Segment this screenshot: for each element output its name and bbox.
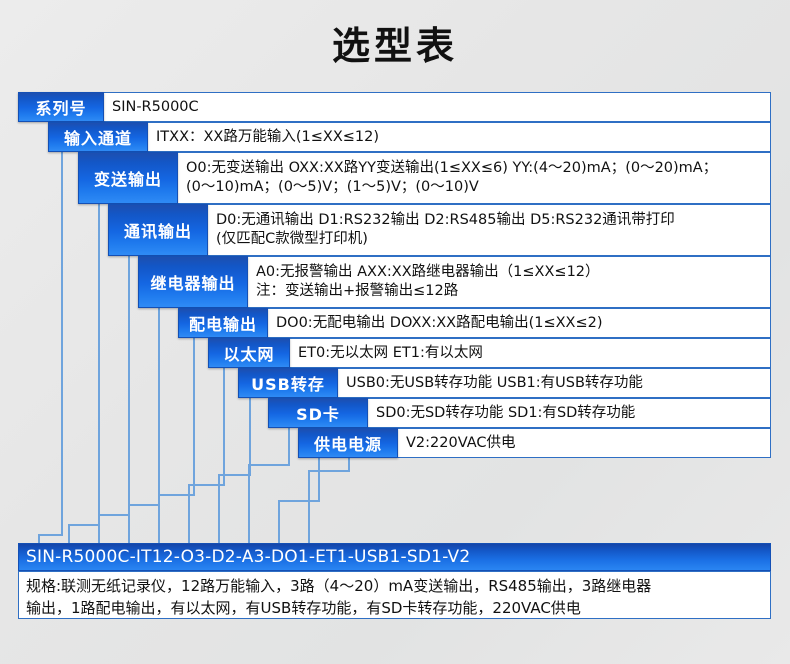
connector-line-series-number — [38, 534, 63, 536]
row-value-power-distribution-output: DO0:无配电输出 DOXX:XX路配电输出(1≤XX≤2) — [268, 308, 771, 338]
connector-line-series-number — [61, 122, 63, 534]
connector-line-power-supply — [348, 458, 350, 470]
row-label-series-number: 系列号 — [18, 92, 104, 122]
row-value-relay-output: A0:无报警输出 AXX:XX路继电器输出（1≤XX≤12）注：变送输出+报警输… — [248, 256, 771, 308]
table-row-usb-transfer: USB转存USB0:无USB转存功能 USB1:有USB转存功能 — [238, 368, 771, 398]
table-row-communication-output: 通讯输出D0:无通讯输出 D1:RS232输出 D2:RS485输出 D5:RS… — [108, 204, 771, 256]
row-label-usb-transfer: USB转存 — [238, 368, 338, 398]
row-value-power-supply: V2:220VAC供电 — [398, 428, 771, 458]
table-row-sd-card: SD卡SD0:无SD转存功能 SD1:有SD转存功能 — [268, 398, 771, 428]
row-value-series-number: SIN-R5000C — [104, 92, 771, 122]
connector-line-power-supply — [308, 470, 310, 543]
connector-line-input-channel — [68, 524, 100, 526]
connector-line-sd-card — [278, 500, 280, 543]
row-label-input-channel: 输入通道 — [48, 122, 148, 152]
connector-line-communication-output — [128, 504, 160, 506]
row-value-line: O0:无变送输出 OXX:XX路YY变送输出(1≤XX≤6) YY:(4～20)… — [186, 159, 762, 178]
table-row-transmit-output: 变送输出O0:无变送输出 OXX:XX路YY变送输出(1≤XX≤6) YY:(4… — [78, 152, 771, 204]
row-label-ethernet: 以太网 — [208, 338, 290, 368]
row-value-transmit-output: O0:无变送输出 OXX:XX路YY变送输出(1≤XX≤6) YY:(4～20)… — [178, 152, 771, 204]
row-label-transmit-output: 变送输出 — [78, 152, 178, 204]
row-value-line: DO0:无配电输出 DOXX:XX路配电输出(1≤XX≤2) — [276, 314, 762, 333]
connector-line-usb-transfer — [248, 464, 250, 543]
spec-line: 规格:联测无纸记录仪，12路万能输入，3路（4～20）mA变送输出，RS485输… — [26, 575, 763, 597]
model-code-bar: SIN-R5000C-IT12-O3-D2-A3-DO1-ET1-USB1-SD… — [18, 543, 771, 571]
connector-line-power-supply — [308, 470, 350, 472]
spec-description-box: 规格:联测无纸记录仪，12路万能输入，3路（4～20）mA变送输出，RS485输… — [18, 571, 771, 619]
connector-line-input-channel — [98, 152, 100, 524]
connector-line-transmit-output — [98, 514, 100, 543]
connector-line-relay-output — [158, 494, 160, 543]
row-label-relay-output: 继电器输出 — [138, 256, 248, 308]
row-value-line: (0～10)mA；(0～5)V；(1～5)V；(0～10)V — [186, 178, 762, 197]
spec-line: 输出，1路配电输出，有以太网，有USB转存功能，有SD卡转存功能，220VAC供… — [26, 597, 763, 619]
row-value-usb-transfer: USB0:无USB转存功能 USB1:有USB转存功能 — [338, 368, 771, 398]
row-value-line: ITXX：XX路万能输入(1≤XX≤12) — [156, 128, 762, 147]
row-value-line: ET0:无以太网 ET1:有以太网 — [298, 344, 762, 363]
connector-line-sd-card — [278, 500, 320, 502]
table-row-ethernet: 以太网ET0:无以太网 ET1:有以太网 — [208, 338, 771, 368]
table-row-input-channel: 输入通道ITXX：XX路万能输入(1≤XX≤12) — [48, 122, 771, 152]
row-value-line: A0:无报警输出 AXX:XX路继电器输出（1≤XX≤12） — [256, 263, 762, 282]
row-value-line: USB0:无USB转存功能 USB1:有USB转存功能 — [346, 374, 762, 393]
table-row-power-supply: 供电电源V2:220VAC供电 — [298, 428, 771, 458]
row-value-sd-card: SD0:无SD转存功能 SD1:有SD转存功能 — [368, 398, 771, 428]
row-label-power-distribution-output: 配电输出 — [178, 308, 268, 338]
connector-line-usb-transfer — [248, 464, 290, 466]
connector-line-ethernet — [218, 474, 220, 543]
connector-line-input-channel — [68, 524, 70, 543]
connector-line-power-distribution-output — [188, 484, 190, 543]
row-value-line: 注：变送输出+报警输出≤12路 — [256, 282, 762, 301]
row-label-sd-card: SD卡 — [268, 398, 368, 428]
connector-line-series-number — [38, 534, 40, 543]
row-value-line: V2:220VAC供电 — [406, 434, 762, 453]
row-value-line: D0:无通讯输出 D1:RS232输出 D2:RS485输出 D5:RS232通… — [216, 211, 762, 230]
table-row-relay-output: 继电器输出A0:无报警输出 AXX:XX路继电器输出（1≤XX≤12）注：变送输… — [138, 256, 771, 308]
row-value-line: (仅匹配C款微型打印机) — [216, 230, 762, 249]
table-row-power-distribution-output: 配电输出DO0:无配电输出 DOXX:XX路配电输出(1≤XX≤2) — [178, 308, 771, 338]
table-row-series-number: 系列号SIN-R5000C — [18, 92, 771, 122]
row-value-communication-output: D0:无通讯输出 D1:RS232输出 D2:RS485输出 D5:RS232通… — [208, 204, 771, 256]
row-label-power-supply: 供电电源 — [298, 428, 398, 458]
connector-line-communication-output — [128, 504, 130, 543]
row-value-ethernet: ET0:无以太网 ET1:有以太网 — [290, 338, 771, 368]
connector-line-transmit-output — [98, 514, 130, 516]
connector-line-ethernet — [218, 474, 251, 476]
row-value-line: SD0:无SD转存功能 SD1:有SD转存功能 — [376, 404, 762, 423]
row-value-input-channel: ITXX：XX路万能输入(1≤XX≤12) — [148, 122, 771, 152]
row-label-communication-output: 通讯输出 — [108, 204, 208, 256]
row-value-line: SIN-R5000C — [112, 98, 762, 117]
